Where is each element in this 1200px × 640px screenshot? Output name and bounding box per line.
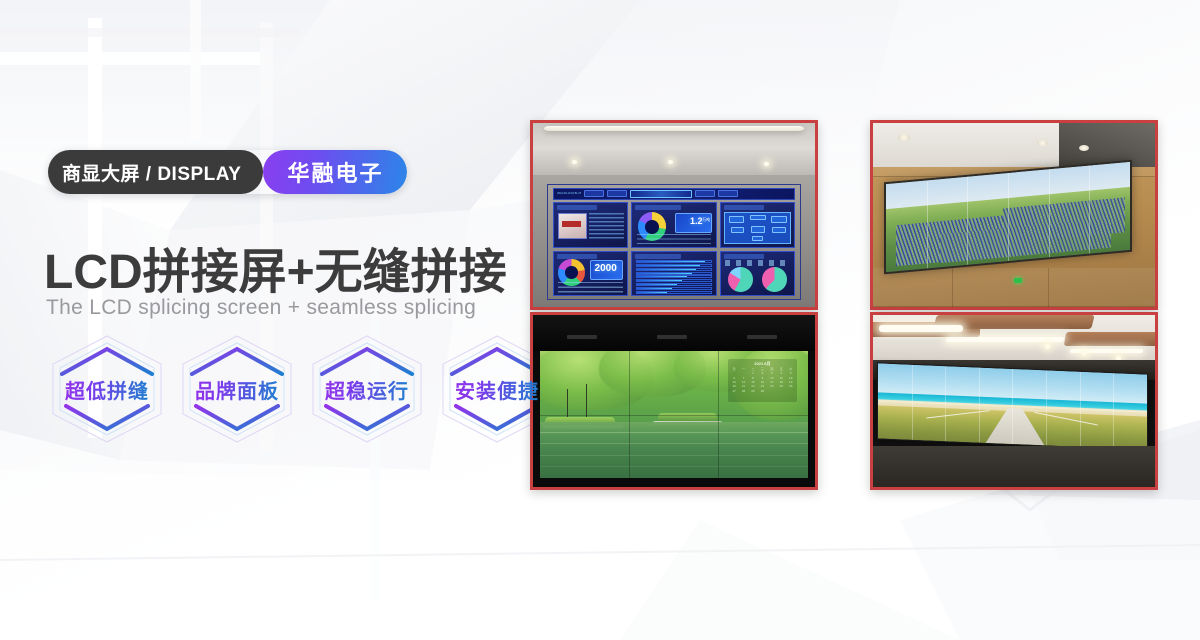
feature-badge-3: 超稳运行 (308, 333, 426, 445)
calendar-day: 22 (748, 384, 757, 388)
kpi-value: 1.2 (690, 216, 703, 226)
bar-row (636, 287, 712, 290)
dashboard-card-grid: 1.2 万吨 (553, 202, 795, 297)
calendar-day: 9 (758, 376, 767, 380)
calendar-day: 5 (786, 371, 795, 375)
calendar-day: 27 (730, 389, 739, 393)
monitor-legend (558, 282, 624, 293)
card-thumbnail (558, 213, 587, 238)
upper-dark-band (533, 315, 815, 351)
feature-label: 超稳运行 (325, 375, 409, 404)
calendar-day: 23 (758, 384, 767, 388)
card-header (557, 254, 597, 260)
bar-row (636, 260, 712, 263)
calendar-day: 7 (739, 376, 748, 380)
calendar-day: 25 (777, 384, 786, 388)
calendar-day: 18 (777, 380, 786, 384)
dashboard-title-box (630, 190, 692, 198)
exit-sign-icon (1014, 278, 1022, 283)
calendar-day (730, 371, 739, 375)
calendar-day: 3 (767, 371, 776, 375)
screen-water (540, 422, 808, 478)
feature-badge-2: 品牌面板 (178, 333, 296, 445)
ceiling (533, 123, 815, 178)
card-header (635, 254, 681, 260)
card-header (724, 205, 764, 211)
bar-row (636, 275, 712, 278)
calendar-day: 20 (730, 384, 739, 388)
ceiling-spot (1079, 145, 1089, 151)
kpi-unit: 万吨 (702, 217, 710, 223)
pie-chart (728, 267, 753, 292)
kpi-value: 2000 (595, 263, 617, 274)
pie-chart (762, 267, 787, 292)
promo-banner: 商显大屏 / DISPLAY 华融电子 LCD拼接屏+无缝拼接 The LCD … (0, 0, 1200, 640)
donut-legend (637, 234, 711, 244)
bar-row (636, 279, 712, 282)
feature-badge-row: 超低拼缝 品牌面板 超稳运行 (48, 333, 556, 445)
dashboard-card-statistics (720, 251, 795, 297)
calendar-header: 2021 6月 (730, 361, 796, 366)
ceiling-light-strip (879, 325, 964, 332)
bar-row (636, 272, 712, 275)
page-subtitle: The LCD splicing screen + seamless splic… (46, 296, 476, 320)
nav-timestamp: 2021-06-13 16:51:27 (557, 192, 581, 195)
ceiling-spot (1037, 140, 1048, 146)
badge-brand-name: 华融电子 (263, 150, 407, 194)
brand-badge: 商显大屏 / DISPLAY 华融电子 (48, 150, 407, 194)
calendar-day: 11 (777, 376, 786, 380)
bar-chart (636, 260, 712, 293)
ceiling-dark-soffit (1059, 123, 1155, 167)
pie-legend (725, 260, 789, 266)
calendar-day: 12 (786, 376, 795, 380)
bar-row (636, 264, 712, 267)
calendar-day: 6 (730, 376, 739, 380)
calendar-day: 28 (739, 389, 748, 393)
dashboard-screen: 2021-06-13 16:51:27 (547, 184, 801, 300)
bar-row (636, 291, 712, 294)
page-title: LCD拼接屏+无缝拼接 (44, 232, 507, 302)
photo-solar-farm-wall (870, 120, 1158, 310)
dashboard-card-energy: 1.2 万吨 (631, 202, 717, 248)
calendar-day: 4 (777, 371, 786, 375)
video-wall-screen: 2021 6月 日一二三四五六 123456789101112131415161… (540, 351, 808, 478)
calendar-day: 1 (748, 371, 757, 375)
calendar-day: 26 (786, 384, 795, 388)
calendar-day (739, 371, 748, 375)
photo-control-room-dashboard: 2021-06-13 16:51:27 (530, 120, 818, 310)
calendar-day: 21 (739, 384, 748, 388)
ceiling-light (764, 162, 769, 166)
feature-label: 超低拼缝 (65, 375, 149, 404)
calendar-day: 8 (748, 376, 757, 380)
ceiling-cove (544, 126, 803, 131)
nav-button[interactable] (607, 190, 627, 197)
nav-button[interactable] (695, 190, 715, 197)
nav-button[interactable] (718, 190, 738, 197)
calendar-day (786, 389, 795, 393)
calendar-day: 19 (786, 380, 795, 384)
card-header (635, 205, 681, 211)
ceiling-light-strip (946, 337, 1066, 342)
bar-row (636, 268, 712, 271)
calendar-day: 13 (730, 380, 739, 384)
dashboard-card-monitor: 2000 (553, 251, 628, 297)
card-header (724, 254, 764, 260)
calendar-day: 10 (767, 376, 776, 380)
photo-lake-garden-wall: 2021 6月 日一二三四五六 123456789101112131415161… (530, 312, 818, 490)
photo-beach-boardwalk-wall (870, 312, 1158, 490)
dashboard-card-ranking (631, 251, 717, 297)
calendar-day (777, 389, 786, 393)
calendar-day (767, 389, 776, 393)
card-header (557, 205, 597, 211)
feature-badge-1: 超低拼缝 (48, 333, 166, 445)
calendar-overlay: 2021 6月 日一二三四五六 123456789101112131415161… (728, 359, 798, 402)
calendar-day: 29 (748, 389, 757, 393)
dashboard-card-flow (720, 202, 795, 248)
card-text-lines (589, 213, 624, 238)
video-wall-screen (877, 363, 1148, 452)
calendar-day: 24 (767, 384, 776, 388)
floor (873, 446, 1155, 487)
downlight (1082, 351, 1087, 356)
dashboard-nav-bar: 2021-06-13 16:51:27 (553, 188, 795, 201)
calendar-day: 14 (739, 380, 748, 384)
nav-button[interactable] (584, 190, 604, 197)
bar-row (636, 283, 712, 286)
feature-label: 安装便捷 (455, 375, 539, 404)
feature-label: 品牌面板 (195, 375, 279, 404)
calendar-days: 1234567891011121314151617181920212223242… (730, 371, 796, 393)
calendar-day: 17 (767, 380, 776, 384)
calendar-day: 2 (758, 371, 767, 375)
calendar-day: 16 (758, 380, 767, 384)
dashboard-card-overview (553, 202, 628, 248)
badge-category: 商显大屏 / DISPLAY (48, 150, 263, 194)
calendar-day: 15 (748, 380, 757, 384)
flow-canvas (724, 212, 791, 244)
calendar-day: 30 (758, 389, 767, 393)
